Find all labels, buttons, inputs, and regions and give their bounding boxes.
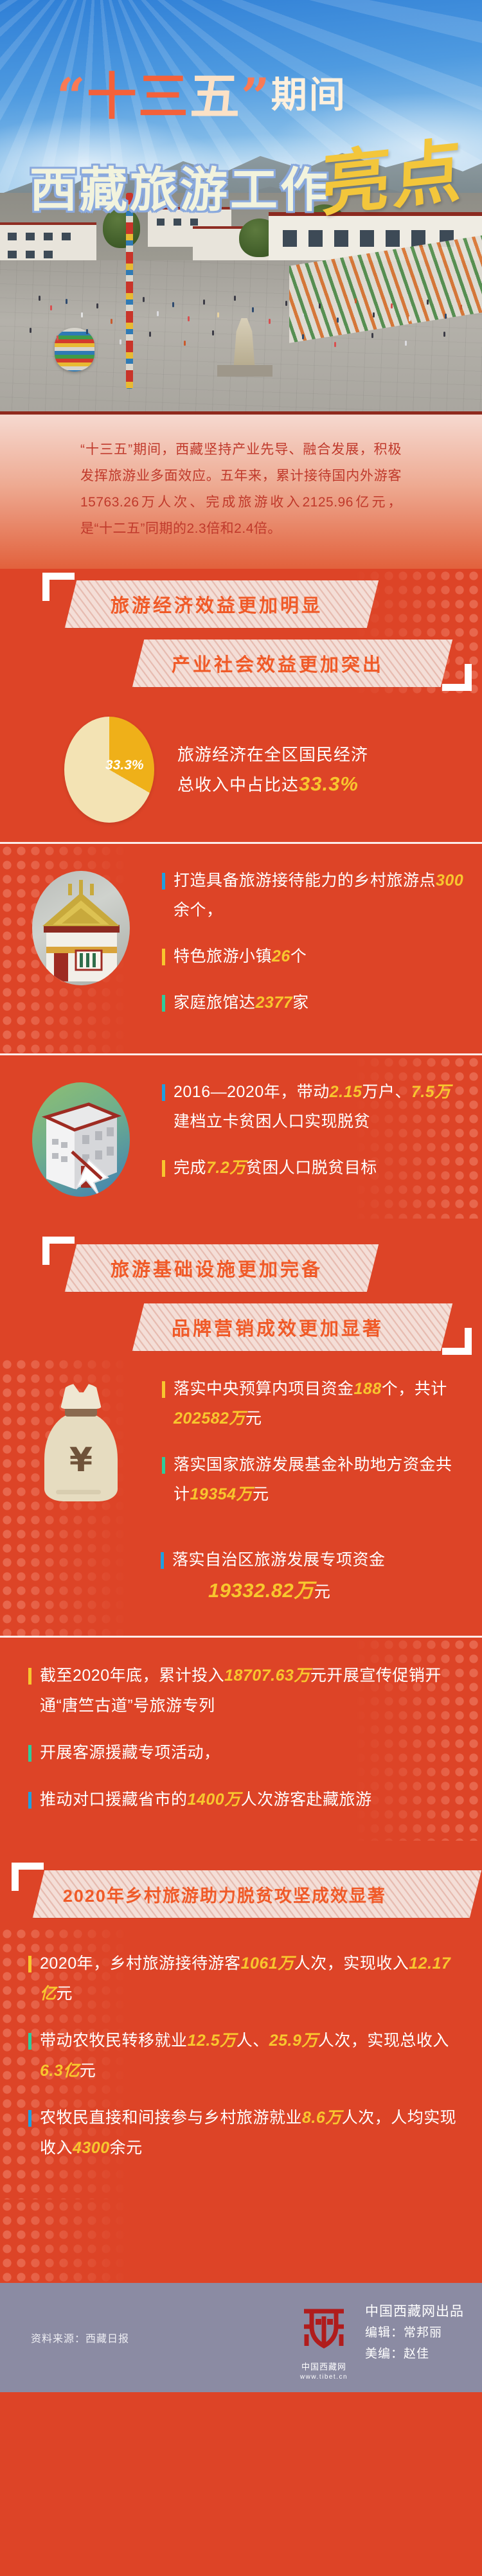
bullet-text: 特色旅游小镇 bbox=[174, 947, 272, 965]
tibet-logo-icon bbox=[298, 2301, 350, 2354]
bullet-value: 19354万 bbox=[190, 1485, 253, 1503]
bullet-tourist-source-aid: 开展客源援藏专项活动， bbox=[28, 1738, 463, 1768]
bullet-value2: 25.9万 bbox=[269, 2032, 318, 2050]
bullet-value: 19332.82万 bbox=[208, 1579, 314, 1602]
corner-bracket-top-left bbox=[42, 1237, 75, 1265]
section-banner-brand-marketing: 品牌营销成效更加显著 bbox=[132, 1303, 452, 1351]
bullet-suffix: 余个， bbox=[174, 901, 223, 919]
bullet-value: 1400万 bbox=[188, 1791, 241, 1809]
bullet-text: 开展客源援藏专项活动， bbox=[40, 1744, 220, 1762]
bullet-text: 落实自治区旅游发展专项资金 bbox=[172, 1551, 386, 1569]
bullet-suffix: 元 bbox=[80, 2062, 96, 2080]
temple-bullets: 打造具备旅游接待能力的乡村旅游点300余个， 特色旅游小镇26个 家庭旅馆达23… bbox=[162, 866, 482, 1034]
money-bag-container: ¥ bbox=[0, 1374, 162, 1526]
banner-label: 产业社会效益更加突出 bbox=[172, 650, 384, 677]
bullet-value2: 202582万 bbox=[174, 1409, 245, 1427]
bullet-family-hotels: 家庭旅馆达2377家 bbox=[162, 988, 465, 1017]
bullet-farmer-participation: 农牧民直接和间接参与乡村旅游就业8.6万人次，人均实现收入4300余元 bbox=[28, 2103, 463, 2163]
bullet-mid: 人、 bbox=[237, 2032, 269, 2050]
pie-description-value: 33.3% bbox=[299, 773, 359, 795]
bag-seam bbox=[56, 1490, 101, 1494]
money-bag-icon: ¥ bbox=[39, 1379, 123, 1501]
banner-label: 2020年乡村旅游助力脱贫攻坚成效显著 bbox=[63, 1882, 386, 1907]
dot-pattern-left bbox=[0, 2199, 129, 2283]
poverty-alleviation-section: 2016—2020年，带动2.15万户、7.5万建档立卡贫困人口实现脱贫 完成7… bbox=[0, 1055, 482, 1219]
bullet-value2: 7.5万 bbox=[411, 1083, 451, 1101]
bullet-suffix: 元 bbox=[253, 1485, 269, 1503]
bullet-rural-tourism-points: 打造具备旅游接待能力的乡村旅游点300余个， bbox=[162, 866, 465, 925]
bullet-suffix: 元 bbox=[314, 1583, 331, 1601]
temple-icon-container bbox=[0, 866, 162, 1034]
bullet-text: 2020年，乡村旅游接待游客 bbox=[40, 1954, 241, 1972]
bottom-spacer bbox=[0, 2199, 482, 2283]
bullet-value: 1061万 bbox=[241, 1954, 294, 1972]
bullet-suffix: 个 bbox=[290, 947, 307, 965]
bullet-mid: 万户、 bbox=[362, 1083, 411, 1101]
bullet-mid: 个，共计 bbox=[382, 1380, 447, 1398]
bullet-text: 完成 bbox=[174, 1159, 206, 1177]
bullet-suffix: 建档立卡贫困人口实现脱贫 bbox=[174, 1113, 370, 1131]
section-banner-infrastructure: 旅游基础设施更加完备 bbox=[65, 1244, 379, 1292]
promotion-section: 截至2020年底，累计投入18707.63万元开展宣传促销开通“唐竺古道”号旅游… bbox=[0, 1638, 482, 1841]
bullet-value2: 4300 bbox=[73, 2139, 110, 2157]
bullet-value: 26 bbox=[272, 947, 290, 965]
designer-credit: 美编：赵佳 bbox=[365, 2343, 464, 2365]
rural-tourism-2020-section: 2020年，乡村旅游接待游客1061万人次，实现收入12.17亿元 带动农牧民转… bbox=[0, 1927, 482, 2199]
bullet-value: 300 bbox=[436, 872, 463, 890]
building-icon-container bbox=[0, 1077, 162, 1199]
bullet-national-fund: 落实国家旅游发展基金补助地方资金共计19354万元 bbox=[162, 1450, 465, 1509]
bullet-regional-special-fund: 落实自治区旅游发展专项资金19332.82万元 bbox=[161, 1545, 482, 1607]
building-bullets: 2016—2020年，带动2.15万户、7.5万建档立卡贫困人口实现脱贫 完成7… bbox=[162, 1077, 482, 1199]
intro-section: “十三五”期间，西藏坚持产业先导、融合发展，积极发挥旅游业多面效应。五年来，累计… bbox=[0, 411, 482, 569]
bullet-value3: 6.3亿 bbox=[40, 2062, 80, 2080]
hero-banner: “十三五”期间 西藏旅游工作 亮点 bbox=[0, 0, 482, 411]
banner-label: 旅游基础设施更加完备 bbox=[111, 1255, 323, 1282]
crowd-of-people bbox=[0, 193, 482, 411]
banner-group-3: 2020年乡村旅游助力脱贫攻坚成效显著 bbox=[0, 1841, 482, 1927]
regional-fund-block: 落实自治区旅游发展专项资金19332.82万元 bbox=[0, 1545, 482, 1636]
bullet-mid: 人次，实现收入 bbox=[294, 1954, 409, 1972]
section-banner-economic-benefit: 旅游经济效益更加明显 bbox=[65, 580, 379, 628]
bullet-farmer-employment: 带动农牧民转移就业12.5万人、25.9万人次，实现总收入6.3亿元 bbox=[28, 2026, 463, 2086]
footer-right-group: 中国西藏网 www.tibet.cn 中国西藏网出品 编辑：常邦丽 美编：赵佳 bbox=[292, 2301, 464, 2381]
corner-bracket-top-left bbox=[12, 1863, 44, 1891]
funding-bullets: 落实中央预算内项目资金188个，共计202582万元 落实国家旅游发展基金补助地… bbox=[162, 1374, 482, 1526]
bag-tie bbox=[60, 1383, 102, 1409]
banner-group-1: 旅游经济效益更加明显 产业社会效益更加突出 bbox=[0, 569, 482, 693]
bullet-text: 家庭旅馆达 bbox=[174, 994, 256, 1012]
bullet-suffix: 元 bbox=[57, 1985, 73, 2003]
corner-bracket-bottom-right bbox=[442, 1328, 472, 1355]
bullet-value: 18707.63万 bbox=[224, 1667, 310, 1685]
bullet-suffix: 家 bbox=[292, 994, 309, 1012]
bullet-promotion-investment: 截至2020年底，累计投入18707.63万元开展宣传促销开通“唐竺古道”号旅游… bbox=[28, 1661, 463, 1721]
section-banner-rural-poverty: 2020年乡村旅游助力脱贫攻坚成效显著 bbox=[33, 1870, 481, 1918]
bullet-tourism-towns: 特色旅游小镇26个 bbox=[162, 942, 465, 971]
banner-label: 旅游经济效益更加明显 bbox=[111, 591, 323, 618]
source-credit: 资料来源：西藏日报 bbox=[31, 2330, 129, 2345]
bullet-suffix: 贫困人口脱贫目标 bbox=[246, 1159, 377, 1177]
bullet-value: 188 bbox=[354, 1380, 382, 1398]
bullet-2020-visitors-revenue: 2020年，乡村旅游接待游客1061万人次，实现收入12.17亿元 bbox=[28, 1949, 463, 2009]
logo-name: 中国西藏网 bbox=[292, 2360, 356, 2372]
bullet-suffix: 元 bbox=[245, 1409, 262, 1427]
lhasa-barkhor-square-photo bbox=[0, 193, 482, 411]
produced-by: 中国西藏网出品 bbox=[365, 2301, 464, 2322]
bullet-value: 2377 bbox=[256, 994, 293, 1012]
tibet-net-logo[interactable]: 中国西藏网 www.tibet.cn bbox=[292, 2301, 356, 2381]
editor-credit: 编辑：常邦丽 bbox=[365, 2322, 464, 2343]
page-footer: 资料来源：西藏日报 中国西藏网 www bbox=[0, 2283, 482, 2392]
tibetan-temple-icon bbox=[32, 871, 130, 985]
bullet-households-lifted: 2016—2020年，带动2.15万户、7.5万建档立卡贫困人口实现脱贫 bbox=[162, 1077, 465, 1136]
bullet-value: 12.5万 bbox=[188, 2032, 237, 2050]
temple-illustration bbox=[32, 871, 130, 985]
pie-chart-section: 33.3% 旅游经济在全区国民经济 总收入中占比达33.3% bbox=[0, 693, 482, 844]
bullet-text: 截至2020年底，累计投入 bbox=[40, 1667, 224, 1685]
corner-bracket-bottom-right bbox=[442, 664, 472, 691]
footer-credits: 中国西藏网出品 编辑：常邦丽 美编：赵佳 bbox=[365, 2301, 464, 2365]
bullet-central-budget: 落实中央预算内项目资金188个，共计202582万元 bbox=[162, 1374, 465, 1433]
banner-label: 品牌营销成效更加显著 bbox=[172, 1314, 384, 1341]
bullet-text: 2016—2020年，带动 bbox=[174, 1083, 330, 1101]
village-building-icon bbox=[32, 1082, 130, 1197]
bullet-text: 带动农牧民转移就业 bbox=[40, 2032, 188, 2050]
logo-url: www.tibet.cn bbox=[292, 2374, 356, 2381]
bullet-text: 推动对口援藏省市的 bbox=[40, 1791, 188, 1809]
bullet-value: 2.15 bbox=[330, 1083, 362, 1101]
bullet-mid2: 人次，实现总收入 bbox=[318, 2032, 449, 2050]
pie-description-line1: 旅游经济在全区国民经济 bbox=[177, 740, 368, 769]
bullet-poverty-target: 完成7.2万贫困人口脱贫目标 bbox=[162, 1153, 465, 1183]
pie-slice-label: 33.3% bbox=[105, 758, 144, 773]
bullet-text: 落实中央预算内项目资金 bbox=[174, 1380, 354, 1398]
bullet-suffix: 余元 bbox=[110, 2139, 143, 2157]
pie-description-line2-prefix: 总收入中占比达 bbox=[177, 775, 299, 794]
yen-symbol-icon: ¥ bbox=[39, 1441, 123, 1480]
rural-tourism-points-section: 打造具备旅游接待能力的乡村旅游点300余个， 特色旅游小镇26个 家庭旅馆达23… bbox=[0, 844, 482, 1055]
building-illustration bbox=[32, 1082, 130, 1197]
bullet-value: 7.2万 bbox=[206, 1159, 246, 1177]
intro-paragraph: “十三五”期间，西藏坚持产业先导、融合发展，积极发挥旅游业多面效应。五年来，累计… bbox=[80, 436, 402, 542]
bullet-suffix: 人次游客赴藏旅游 bbox=[241, 1791, 372, 1809]
corner-bracket-top-left bbox=[42, 573, 75, 601]
bullet-paired-assistance-visitors: 推动对口援藏省市的1400万人次游客赴藏旅游 bbox=[28, 1785, 463, 1815]
infographic-page: “十三五”期间 西藏旅游工作 亮点 “十三五”期间，西藏坚持产业先导、融合发展，… bbox=[0, 0, 482, 2576]
bullet-text: 农牧民直接和间接参与乡村旅游就业 bbox=[40, 2109, 302, 2127]
section-banner-social-benefit: 产业社会效益更加突出 bbox=[132, 640, 452, 687]
bullet-text: 打造具备旅游接待能力的乡村旅游点 bbox=[174, 872, 436, 890]
pie-description: 旅游经济在全区国民经济 总收入中占比达33.3% bbox=[177, 740, 368, 800]
banner-group-2: 旅游基础设施更加完备 品牌营销成效更加显著 bbox=[0, 1219, 482, 1357]
funding-section: ¥ 落实中央预算内项目资金188个，共计202582万元 落实国家旅游发展基金补… bbox=[0, 1357, 482, 1638]
bullet-value: 8.6万 bbox=[302, 2109, 342, 2127]
pie-chart: 33.3% bbox=[64, 717, 154, 823]
